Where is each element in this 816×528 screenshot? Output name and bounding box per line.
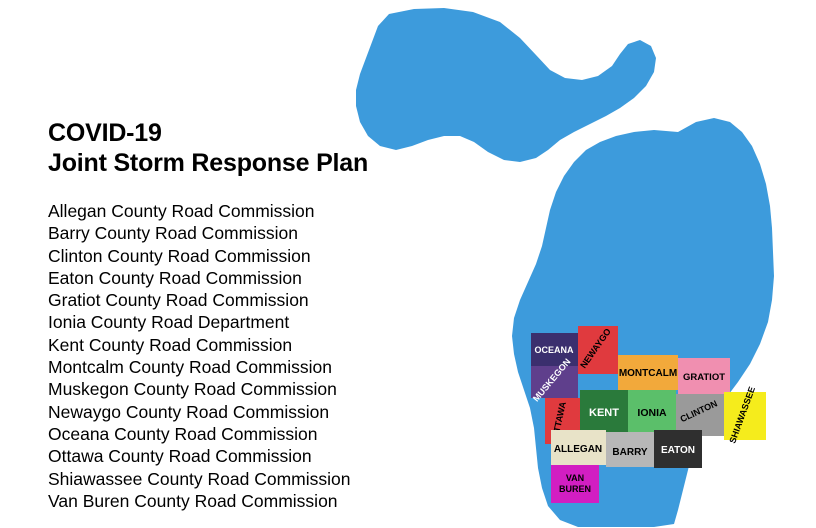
- poster-page: OCEANA NEWAYGO MUSKEGON MONTCALM GRATIOT…: [0, 0, 816, 528]
- list-item: Clinton County Road Commission: [48, 245, 448, 267]
- list-item: Van Buren County Road Commission: [48, 490, 448, 512]
- title-line-2: Joint Storm Response Plan: [48, 148, 408, 178]
- title-block: COVID-19 Joint Storm Response Plan: [48, 118, 408, 178]
- county-label-eaton: EATON: [661, 445, 695, 456]
- list-item: Muskegon County Road Commission: [48, 378, 448, 400]
- county-label-gratiot: GRATIOT: [683, 372, 725, 383]
- county-label-van-buren-2: BUREN: [559, 484, 591, 494]
- list-item: Ottawa County Road Commission: [48, 445, 448, 467]
- list-item: Ionia County Road Department: [48, 311, 448, 333]
- county-label-kent: KENT: [589, 407, 619, 419]
- agency-list: Allegan County Road Commission Barry Cou…: [48, 200, 448, 512]
- county-label-oceana: OCEANA: [534, 345, 574, 355]
- list-item: Gratiot County Road Commission: [48, 289, 448, 311]
- list-item: Montcalm County Road Commission: [48, 356, 448, 378]
- list-item: Allegan County Road Commission: [48, 200, 448, 222]
- list-item: Barry County Road Commission: [48, 222, 448, 244]
- title-line-1: COVID-19: [48, 118, 408, 148]
- county-label-van-buren: VAN: [566, 473, 584, 483]
- list-item: Oceana County Road Commission: [48, 423, 448, 445]
- list-item: Newaygo County Road Commission: [48, 401, 448, 423]
- county-label-montcalm: MONTCALM: [619, 368, 677, 379]
- county-label-ionia: IONIA: [637, 407, 667, 419]
- list-item: Shiawassee County Road Commission: [48, 468, 448, 490]
- list-item: Eaton County Road Commission: [48, 267, 448, 289]
- county-label-barry: BARRY: [612, 447, 648, 458]
- county-label-allegan: ALLEGAN: [554, 444, 602, 455]
- list-item: Kent County Road Commission: [48, 334, 448, 356]
